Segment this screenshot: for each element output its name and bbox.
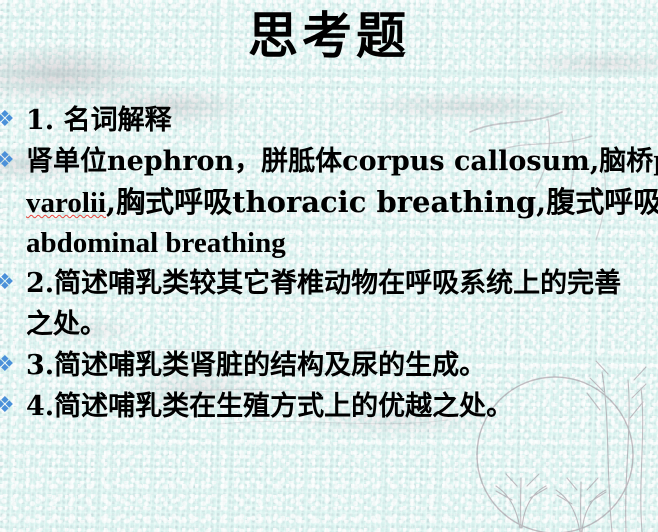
bullet-text: 2.简述哺乳类较其它脊椎动物在呼吸系统上的完善 bbox=[26, 268, 621, 299]
bullet-item-5[interactable]: ❖ 4.简述哺乳类在生殖方式上的优越之处。 bbox=[0, 386, 658, 427]
bullet-text: 1. 名词解释 bbox=[26, 105, 172, 136]
bullet-text: 肾单位nephron，胼胝体corpus callosum,脑桥pons bbox=[26, 146, 658, 177]
slide-title: 思考题 bbox=[0, 6, 658, 66]
bullet-text: 4.简述哺乳类在生殖方式上的优越之处。 bbox=[26, 391, 513, 422]
diamond-bullet-icon: ❖ bbox=[0, 141, 21, 181]
diamond-bullet-icon: ❖ bbox=[0, 263, 21, 303]
bullet-item-4[interactable]: ❖ 3.简述哺乳类肾脏的结构及尿的生成。 bbox=[0, 345, 658, 386]
bullet-item-3-line-2: 之处。 bbox=[0, 304, 658, 345]
bullet-item-2-line-2: varolii,胸式呼吸thoracic breathing,腹式呼吸 bbox=[0, 182, 658, 223]
bullet-text: 3.简述哺乳类肾脏的结构及尿的生成。 bbox=[26, 350, 486, 381]
diamond-bullet-icon: ❖ bbox=[0, 345, 21, 385]
bullet-item-2-line-3: abdominal breathing bbox=[0, 223, 658, 263]
bullet-text: 之处。 bbox=[26, 309, 107, 340]
bullet-item-1[interactable]: ❖ 1. 名词解释 bbox=[0, 100, 658, 141]
slide-canvas: 思考题 ❖ 1. 名词解释 ❖ 肾单位nephron，胼胝体corpus cal… bbox=[0, 0, 658, 532]
diamond-bullet-icon: ❖ bbox=[0, 386, 21, 426]
bullet-text: abdominal breathing bbox=[26, 227, 286, 259]
bullet-text-rest: ,胸式呼吸thoracic breathing,腹式呼吸 bbox=[106, 185, 658, 219]
misspelled-word: varolii bbox=[26, 187, 106, 219]
bullet-item-2[interactable]: ❖ 肾单位nephron，胼胝体corpus callosum,脑桥pons bbox=[0, 141, 658, 182]
diamond-bullet-icon: ❖ bbox=[0, 100, 21, 140]
slide-body: ❖ 1. 名词解释 ❖ 肾单位nephron，胼胝体corpus callosu… bbox=[0, 100, 658, 427]
bullet-item-3[interactable]: ❖ 2.简述哺乳类较其它脊椎动物在呼吸系统上的完善 bbox=[0, 263, 658, 304]
